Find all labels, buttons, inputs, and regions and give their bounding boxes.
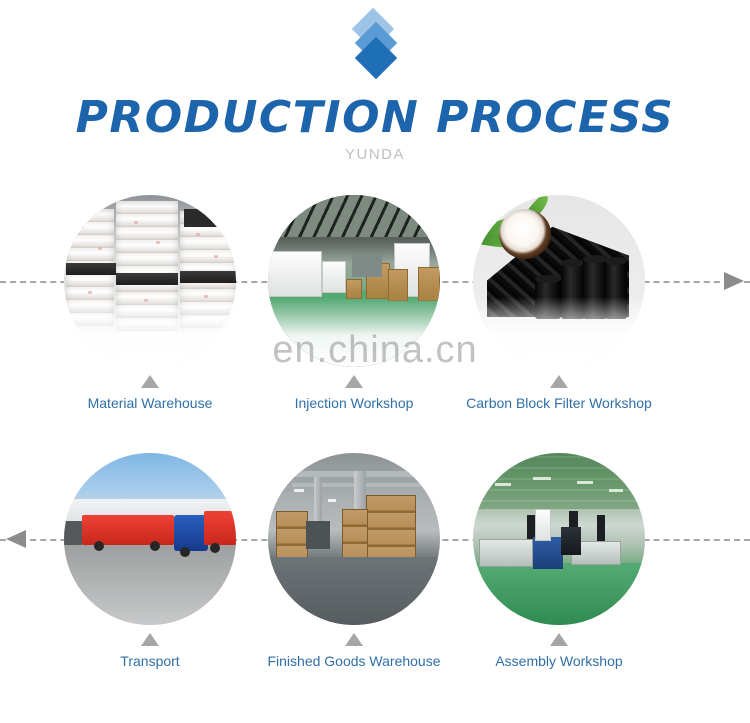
- process-step: Injection Workshop: [252, 195, 456, 425]
- step-marker-triangle: [141, 633, 159, 646]
- process-step: Material Warehouse: [48, 195, 252, 425]
- process-step: Transport: [48, 453, 252, 683]
- process-row-top: Material Warehouse Injection: [0, 195, 750, 425]
- step-marker-triangle: [345, 633, 363, 646]
- assembly-line-hall-photo: [473, 453, 645, 625]
- production-process-infographic: PRODUCTION PROCESS YUNDA: [0, 0, 750, 723]
- process-step: Carbon Block Filter Workshop: [457, 195, 661, 425]
- step-image-circle: [473, 195, 645, 367]
- step-marker-triangle: [550, 633, 568, 646]
- step-marker-triangle: [345, 375, 363, 388]
- step-marker-triangle: [141, 375, 159, 388]
- process-step: Finished Goods Warehouse: [252, 453, 456, 683]
- step-marker-triangle: [550, 375, 568, 388]
- step-image-circle: [64, 195, 236, 367]
- arrow-left-icon: [6, 530, 26, 548]
- arrow-right-icon: [724, 272, 744, 290]
- step-image-circle: [473, 453, 645, 625]
- page-subtitle: YUNDA: [0, 144, 750, 166]
- stacked-diamonds-icon: [351, 14, 399, 76]
- page-title: PRODUCTION PROCESS: [0, 92, 750, 144]
- carton-warehouse-photo: [268, 453, 440, 625]
- stacked-white-sacks-photo: [64, 195, 236, 367]
- loading-dock-trucks-photo: [64, 453, 236, 625]
- process-row-bottom: Transport Finished: [0, 453, 750, 683]
- step-image-circle: [268, 453, 440, 625]
- coconut-carbon-blocks-photo: [473, 195, 645, 367]
- step-label: Carbon Block Filter Workshop: [422, 393, 696, 413]
- step-image-circle: [64, 453, 236, 625]
- step-label: Assembly Workshop: [422, 651, 696, 671]
- step-image-circle: [268, 195, 440, 367]
- injection-molding-hall-photo: [268, 195, 440, 367]
- process-step: Assembly Workshop: [457, 453, 661, 683]
